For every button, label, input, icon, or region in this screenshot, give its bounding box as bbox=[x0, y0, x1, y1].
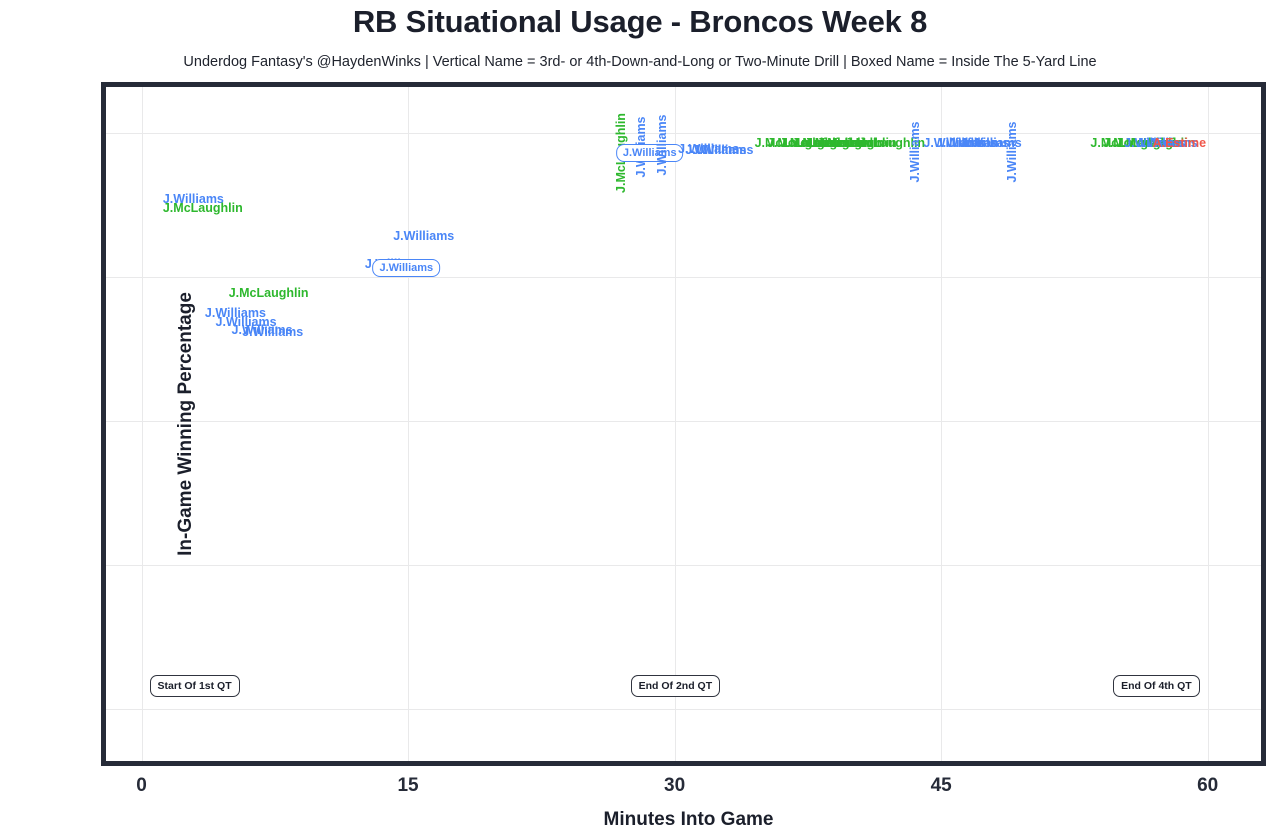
quarter-annotation: Start Of 1st QT bbox=[150, 675, 240, 697]
gridline-vertical bbox=[408, 87, 409, 761]
chart-subtitle: Underdog Fantasy's @HaydenWinks | Vertic… bbox=[0, 54, 1280, 70]
gridline-vertical bbox=[675, 87, 676, 761]
quarter-annotation: End Of 2nd QT bbox=[631, 675, 721, 697]
plot-inner: Start Of 1st QTEnd Of 2nd QTEnd Of 4th Q… bbox=[106, 87, 1261, 761]
data-point-label: J.Williams bbox=[692, 143, 753, 157]
data-point-label: J.McLaughlin bbox=[163, 201, 243, 215]
x-axis-label: Minutes Into Game bbox=[106, 809, 1271, 831]
gridline-horizontal bbox=[106, 709, 1261, 710]
quarter-annotation: End Of 4th QT bbox=[1113, 675, 1200, 697]
data-point-label: J.Williams bbox=[393, 229, 454, 243]
y-axis-label: In-Game Winning Percentage bbox=[175, 292, 197, 556]
data-point-label: J.Williams bbox=[372, 259, 440, 277]
gridline-vertical bbox=[941, 87, 942, 761]
data-point-label: J.Williams bbox=[242, 325, 303, 339]
data-point-label: J.Williams bbox=[616, 144, 684, 162]
plot-area: Start Of 1st QTEnd Of 2nd QTEnd Of 4th Q… bbox=[101, 82, 1266, 766]
data-point-label: J.McLaughlin bbox=[229, 286, 309, 300]
page-title: RB Situational Usage - Broncos Week 8 bbox=[0, 4, 1280, 40]
data-point-label: J.Williams bbox=[908, 121, 922, 182]
x-axis-tick: 15 bbox=[358, 775, 458, 797]
gridline-horizontal bbox=[106, 277, 1261, 278]
gridline-horizontal bbox=[106, 421, 1261, 422]
chart-root: RB Situational Usage - Broncos Week 8 Un… bbox=[0, 0, 1280, 838]
gridline-vertical bbox=[1208, 87, 1209, 761]
data-point-label: J.Williams bbox=[655, 114, 669, 175]
gridline-horizontal bbox=[106, 133, 1261, 134]
x-axis-tick: 0 bbox=[92, 775, 192, 797]
data-point-label: A.Estime bbox=[1153, 136, 1207, 150]
x-axis-tick: 45 bbox=[891, 775, 991, 797]
x-axis-tick: 30 bbox=[625, 775, 725, 797]
x-axis-tick: 60 bbox=[1158, 775, 1258, 797]
gridline-vertical bbox=[142, 87, 143, 761]
data-point-label: J.Williams bbox=[1005, 121, 1019, 182]
gridline-horizontal bbox=[106, 565, 1261, 566]
